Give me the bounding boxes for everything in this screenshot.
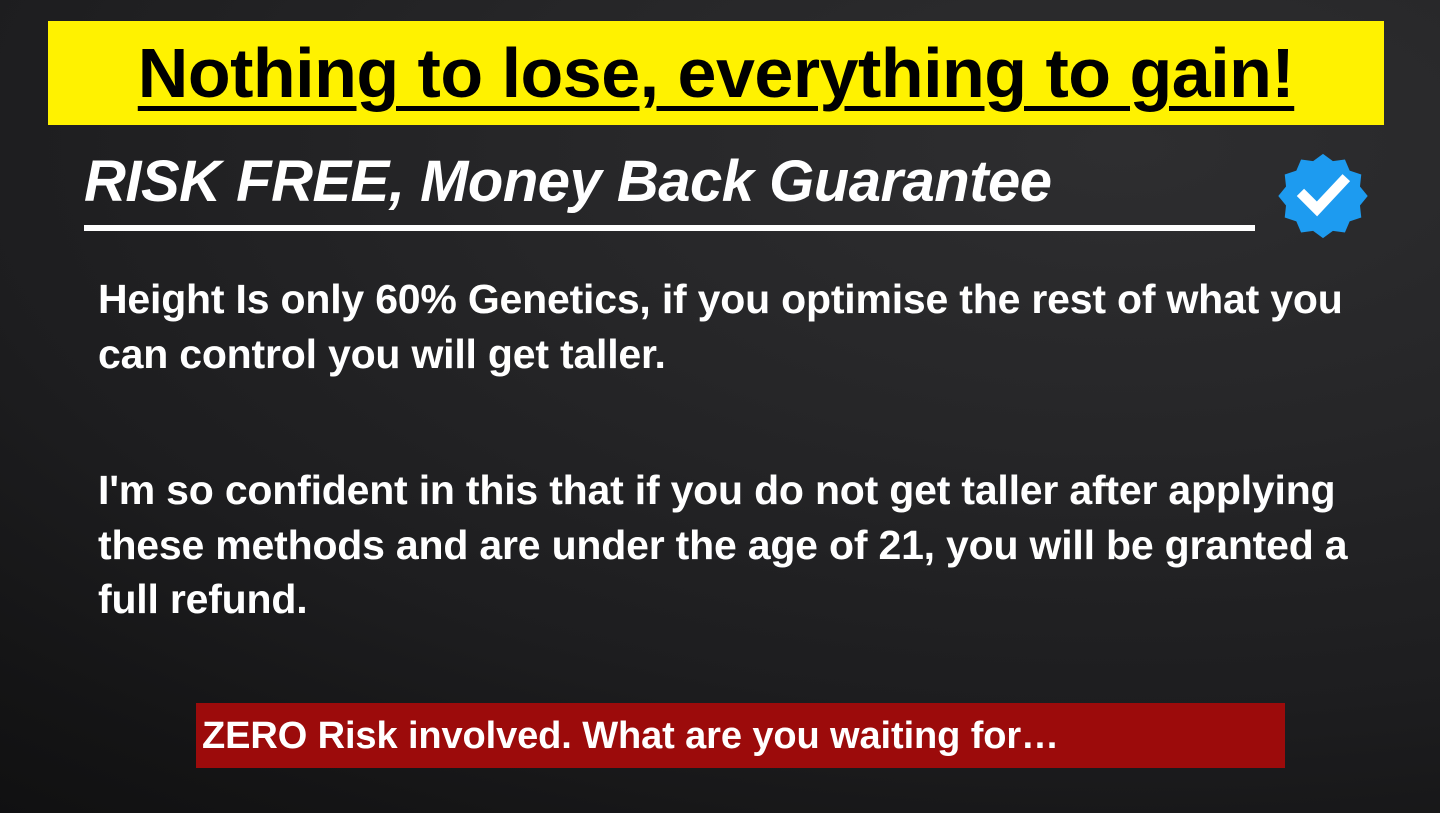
headline-banner-text: Nothing to lose, everything to gain! xyxy=(48,18,1384,128)
slide-canvas: Nothing to lose, everything to gain! RIS… xyxy=(0,0,1440,813)
subheading-risk-free: RISK FREE, Money Back Guarantee xyxy=(84,152,1052,213)
verified-check-badge-icon xyxy=(1268,153,1378,239)
body-paragraph-refund: I'm so confident in this that if you do … xyxy=(98,463,1388,627)
subheading-underline xyxy=(84,225,1255,231)
body-paragraph-genetics: Height Is only 60% Genetics, if you opti… xyxy=(98,272,1383,381)
callout-banner-text: ZERO Risk involved. What are you waiting… xyxy=(196,703,1316,768)
